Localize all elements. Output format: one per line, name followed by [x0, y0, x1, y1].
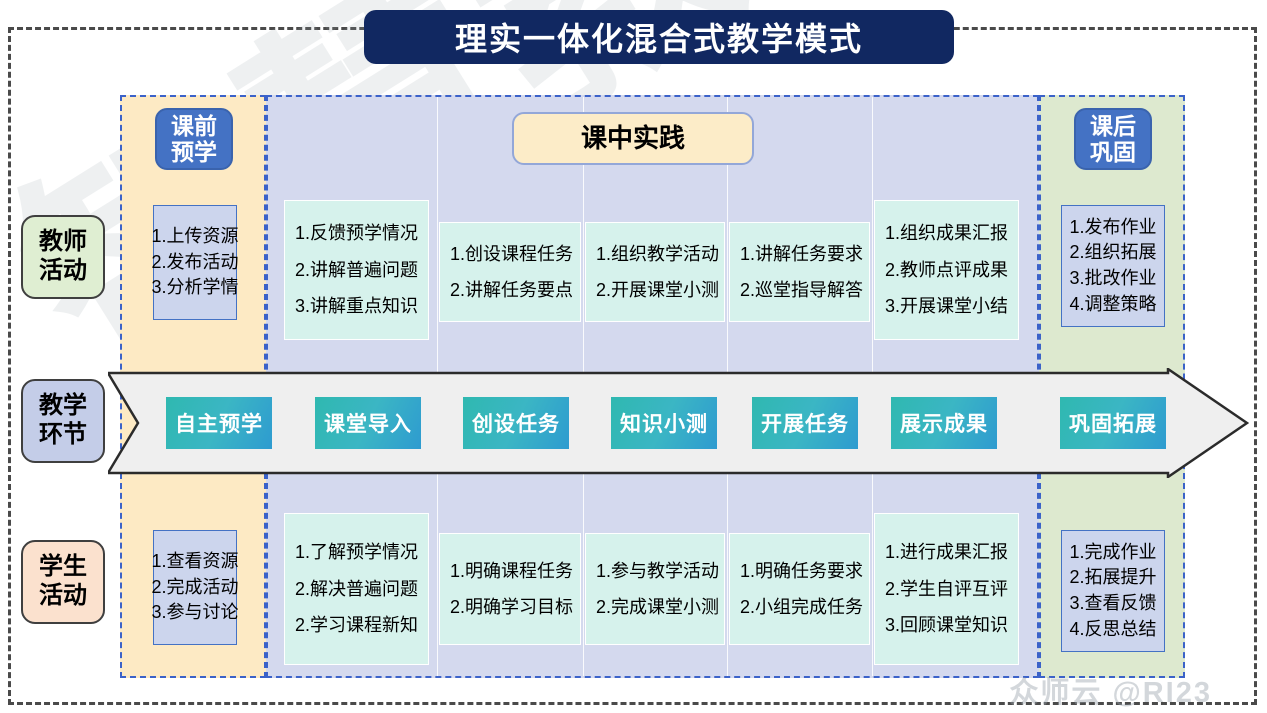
- page-title: 理实一体化混合式教学模式: [455, 14, 863, 60]
- teacher-activity-card: 1.组织成果汇报2.教师点评成果3.开展课堂小结: [874, 200, 1019, 340]
- activity-line: 1.参与教学活动: [596, 560, 714, 583]
- activity-line: 1.上传资源: [152, 224, 239, 250]
- row-label-teacher-line2: 活动: [39, 257, 87, 286]
- activity-line: 2.完成活动: [152, 575, 239, 601]
- activity-line: 1.反馈预学情况: [295, 222, 418, 245]
- activity-line: 2.完成课堂小测: [596, 596, 714, 619]
- diagram-title-banner: 理实一体化混合式教学模式: [364, 10, 954, 64]
- phase-chip-in-class[interactable]: 课中实践: [512, 112, 754, 165]
- activity-line: 2.开展课堂小测: [596, 279, 714, 302]
- stage-chip-label: 创设任务: [472, 408, 560, 438]
- activity-line: 3.开展课堂小结: [885, 295, 1008, 318]
- stage-chip[interactable]: 开展任务: [752, 397, 858, 449]
- activity-line: 1.组织成果汇报: [885, 222, 1008, 245]
- stage-chip-label: 自主预学: [175, 408, 263, 438]
- activity-line: 1.了解预学情况: [295, 541, 418, 564]
- activity-line: 3.批改作业: [1070, 266, 1157, 292]
- activity-line: 3.讲解重点知识: [295, 295, 418, 318]
- activity-line: 2.小组完成任务: [740, 596, 859, 619]
- activity-line: 2.讲解任务要点: [450, 279, 570, 302]
- activity-line: 2.学生自评互评: [885, 578, 1008, 601]
- teacher-activity-card: 1.创设课程任务2.讲解任务要点: [439, 222, 581, 322]
- activity-line: 2.拓展提升: [1070, 565, 1157, 591]
- diagram-canvas: 智慧教学 理实一体化混合式教学模式 课前 预学 课中实践 课后 巩固 教师 活动…: [0, 0, 1267, 713]
- phase-chip-post-class[interactable]: 课后 巩固: [1074, 108, 1152, 170]
- stage-chip-label: 知识小测: [620, 408, 708, 438]
- activity-line: 1.讲解任务要求: [740, 243, 859, 266]
- phase-chip-pre-line1: 课前: [171, 113, 217, 139]
- stage-chip[interactable]: 展示成果: [891, 397, 997, 449]
- student-activity-card: 1.明确课程任务2.明确学习目标: [439, 533, 581, 645]
- activity-line: 2.巡堂指导解答: [740, 279, 859, 302]
- row-label-teacher-line1: 教师: [39, 228, 87, 257]
- stage-chip-label: 巩固拓展: [1069, 408, 1157, 438]
- teacher-activity-card: 1.发布作业2.组织拓展3.批改作业4.调整策略: [1061, 205, 1165, 327]
- student-activity-card: 1.了解预学情况2.解决普遍问题2.学习课程新知: [284, 513, 429, 665]
- row-label-teaching-stage: 教学 环节: [21, 379, 105, 463]
- activity-line: 1.完成作业: [1070, 540, 1157, 566]
- row-label-stage-line1: 教学: [39, 392, 87, 421]
- stage-chip[interactable]: 创设任务: [463, 397, 569, 449]
- stage-chip[interactable]: 知识小测: [611, 397, 717, 449]
- row-label-stage-line2: 环节: [39, 421, 87, 450]
- teacher-activity-card: 1.反馈预学情况2.讲解普遍问题3.讲解重点知识: [284, 200, 429, 340]
- stage-chip[interactable]: 巩固拓展: [1060, 397, 1166, 449]
- activity-line: 3.分析学情: [152, 275, 239, 301]
- activity-line: 4.反思总结: [1070, 617, 1157, 643]
- activity-line: 2.教师点评成果: [885, 259, 1008, 282]
- stage-chip-label: 课堂导入: [324, 408, 412, 438]
- activity-line: 2.讲解普遍问题: [295, 259, 418, 282]
- student-activity-card: 1.明确任务要求2.小组完成任务: [729, 533, 870, 645]
- teacher-activity-card: 1.上传资源2.发布活动3.分析学情: [153, 205, 237, 320]
- row-label-teacher-activity: 教师 活动: [21, 215, 105, 299]
- stage-chip-label: 展示成果: [900, 408, 988, 438]
- activity-line: 4.调整策略: [1070, 292, 1157, 318]
- student-activity-card: 1.进行成果汇报2.学生自评互评3.回顾课堂知识: [874, 513, 1019, 665]
- row-label-student-line1: 学生: [39, 553, 87, 582]
- activity-line: 1.进行成果汇报: [885, 541, 1008, 564]
- row-label-student-activity: 学生 活动: [21, 540, 105, 624]
- stage-chip[interactable]: 自主预学: [166, 397, 272, 449]
- activity-line: 1.组织教学活动: [596, 243, 714, 266]
- activity-line: 2.解决普遍问题: [295, 578, 418, 601]
- teacher-activity-card: 1.讲解任务要求2.巡堂指导解答: [729, 222, 870, 322]
- phase-chip-post-line2: 巩固: [1090, 139, 1136, 165]
- student-activity-card: 1.查看资源2.完成活动3.参与讨论: [153, 530, 237, 645]
- activity-line: 1.查看资源: [152, 549, 239, 575]
- phase-chip-in-label: 课中实践: [581, 124, 685, 154]
- activity-line: 1.明确任务要求: [740, 560, 859, 583]
- activity-line: 2.组织拓展: [1070, 240, 1157, 266]
- activity-line: 1.发布作业: [1070, 215, 1157, 241]
- activity-line: 1.创设课程任务: [450, 243, 570, 266]
- activity-line: 1.明确课程任务: [450, 560, 570, 583]
- stage-chip[interactable]: 课堂导入: [315, 397, 421, 449]
- activity-line: 2.发布活动: [152, 250, 239, 276]
- activity-line: 3.查看反馈: [1070, 591, 1157, 617]
- phase-chip-pre-class[interactable]: 课前 预学: [155, 108, 233, 170]
- phase-chip-post-line1: 课后: [1090, 113, 1136, 139]
- activity-line: 2.明确学习目标: [450, 596, 570, 619]
- activity-line: 2.学习课程新知: [295, 614, 418, 637]
- student-activity-card: 1.参与教学活动2.完成课堂小测: [585, 533, 725, 645]
- phase-chip-pre-line2: 预学: [171, 139, 217, 165]
- activity-line: 3.参与讨论: [152, 600, 239, 626]
- row-label-student-line2: 活动: [39, 582, 87, 611]
- activity-line: 3.回顾课堂知识: [885, 614, 1008, 637]
- stage-chip-label: 开展任务: [761, 408, 849, 438]
- student-activity-card: 1.完成作业2.拓展提升3.查看反馈4.反思总结: [1061, 530, 1165, 652]
- teacher-activity-card: 1.组织教学活动2.开展课堂小测: [585, 222, 725, 322]
